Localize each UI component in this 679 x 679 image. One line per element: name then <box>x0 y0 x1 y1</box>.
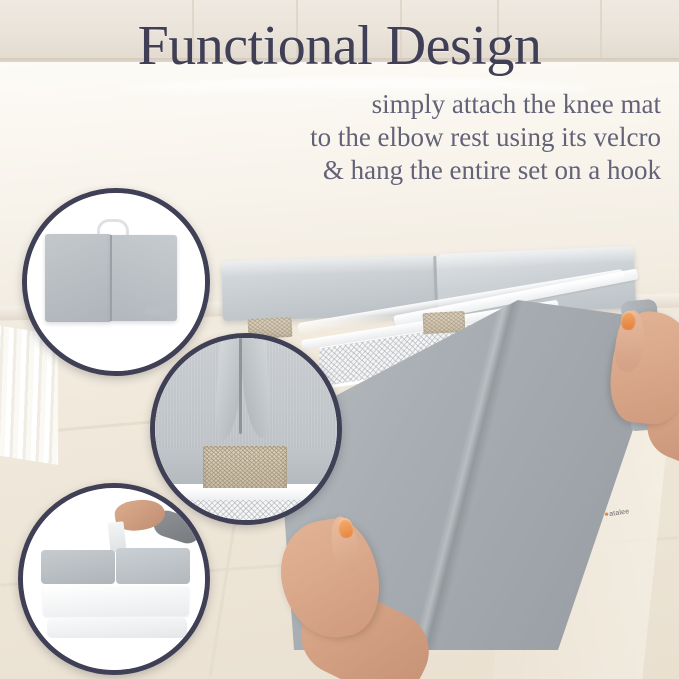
inset-background <box>23 488 205 670</box>
subtitle-block: simply attach the knee mat to the elbow … <box>0 88 661 188</box>
subtitle-line-1: simply attach the knee mat <box>0 88 661 121</box>
set-mat-right-panel <box>116 548 190 584</box>
inset-hand-hanging-set <box>18 483 210 675</box>
folded-mat-seam <box>110 235 112 321</box>
folded-mat-brand-tag <box>145 307 167 315</box>
folded-mat-right-panel <box>111 235 177 321</box>
subtitle-line-2: to the elbow rest using its velcro <box>0 121 661 154</box>
set-white-layer-lower <box>47 618 187 638</box>
product-marketing-image: ●atalee Functional Design simply attach … <box>0 0 679 679</box>
brand-label: ●atalee <box>603 506 629 518</box>
folded-mat-left-panel <box>45 234 111 322</box>
velcro-patch-right <box>422 311 465 334</box>
set-mat-left-panel <box>41 550 115 584</box>
velcro-closeup-patch <box>203 446 287 492</box>
velcro-closeup-crease <box>239 334 242 434</box>
subtitle-line-3: & hang the entire set on a hook <box>0 154 661 187</box>
set-white-layer-upper <box>43 586 189 616</box>
brand-name: atalee <box>609 508 630 518</box>
page-title: Functional Design <box>0 18 679 74</box>
